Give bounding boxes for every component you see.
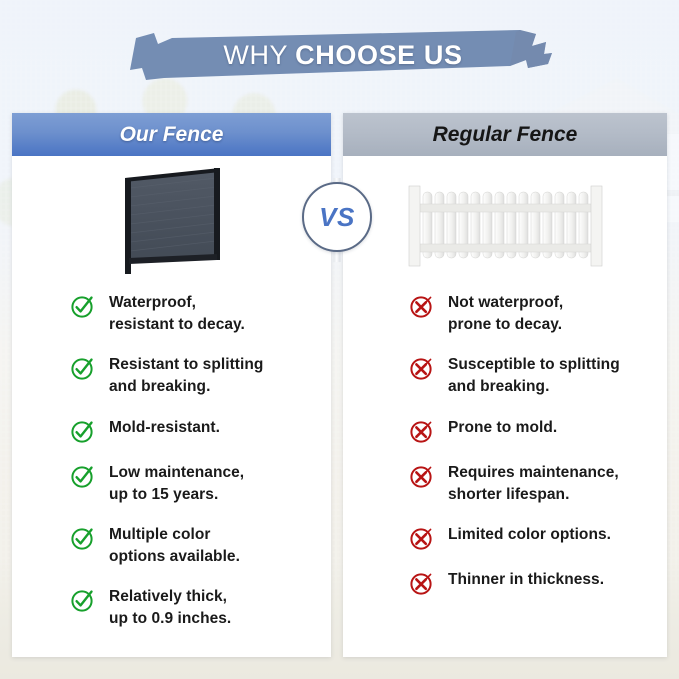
list-item: Prone to mold. — [343, 417, 667, 444]
banner-title-bold: CHOOSE US — [295, 40, 462, 71]
list-item: Resistant to splitting and breaking. — [12, 354, 331, 398]
green-check-icon — [70, 418, 96, 444]
feature-text: Prone to mold. — [448, 417, 557, 439]
feature-text: Mold-resistant. — [109, 417, 220, 439]
list-item: Thinner in thickness. — [343, 569, 667, 596]
list-item: Requires maintenance, shorter lifespan. — [343, 462, 667, 506]
column-header-regular-fence: Regular Fence — [343, 113, 667, 156]
list-item: Relatively thick, up to 0.9 inches. — [12, 586, 331, 630]
column-header-our-fence: Our Fence — [12, 113, 331, 156]
feature-text: Thinner in thickness. — [448, 569, 604, 591]
feature-text: Relatively thick, up to 0.9 inches. — [109, 586, 231, 630]
list-item: Mold-resistant. — [12, 417, 331, 444]
feature-text: Low maintenance, up to 15 years. — [109, 462, 244, 506]
feature-text: Multiple color options available. — [109, 524, 240, 568]
vs-badge-label: VS — [319, 202, 355, 233]
list-item: Multiple color options available. — [12, 524, 331, 568]
green-check-icon — [70, 463, 96, 489]
feature-text: Not waterproof, prone to decay. — [448, 292, 563, 336]
vs-badge: VS — [300, 178, 374, 262]
feature-text: Resistant to splitting and breaking. — [109, 354, 263, 398]
feature-text: Requires maintenance, shorter lifespan. — [448, 462, 619, 506]
feature-text: Susceptible to splitting and breaking. — [448, 354, 620, 398]
red-cross-icon — [409, 570, 435, 596]
fence-image-regular-fence — [343, 156, 667, 276]
red-cross-icon — [409, 293, 435, 319]
list-item: Low maintenance, up to 15 years. — [12, 462, 331, 506]
column-our-fence: Our Fence — [12, 113, 331, 657]
banner-title-light: WHY — [223, 40, 288, 71]
list-item: Limited color options. — [343, 524, 667, 551]
red-cross-icon — [409, 418, 435, 444]
green-check-icon — [70, 293, 96, 319]
white-picket-fence-icon — [399, 174, 611, 270]
dark-composite-fence-panel-icon — [113, 164, 231, 276]
feature-text: Limited color options. — [448, 524, 611, 546]
infographic-root: WHY CHOOSE US Our Fence — [0, 0, 679, 679]
banner-title-text: WHY CHOOSE US — [128, 24, 558, 86]
list-item: Waterproof, resistant to decay. — [12, 292, 331, 336]
feature-text: Waterproof, resistant to decay. — [109, 292, 245, 336]
red-cross-icon — [409, 525, 435, 551]
feature-list-our-fence: Waterproof, resistant to decay. Resistan… — [12, 276, 331, 631]
list-item: Susceptible to splitting and breaking. — [343, 354, 667, 398]
green-check-icon — [70, 525, 96, 551]
red-cross-icon — [409, 463, 435, 489]
title-banner: WHY CHOOSE US — [128, 24, 558, 86]
green-check-icon — [70, 587, 96, 613]
vs-badge-circle: VS — [302, 182, 372, 252]
red-cross-icon — [409, 355, 435, 381]
column-regular-fence: Regular Fence — [343, 113, 667, 657]
green-check-icon — [70, 355, 96, 381]
list-item: Not waterproof, prone to decay. — [343, 292, 667, 336]
feature-list-regular-fence: Not waterproof, prone to decay. Suscepti… — [343, 276, 667, 596]
fence-image-our-fence — [12, 156, 331, 276]
